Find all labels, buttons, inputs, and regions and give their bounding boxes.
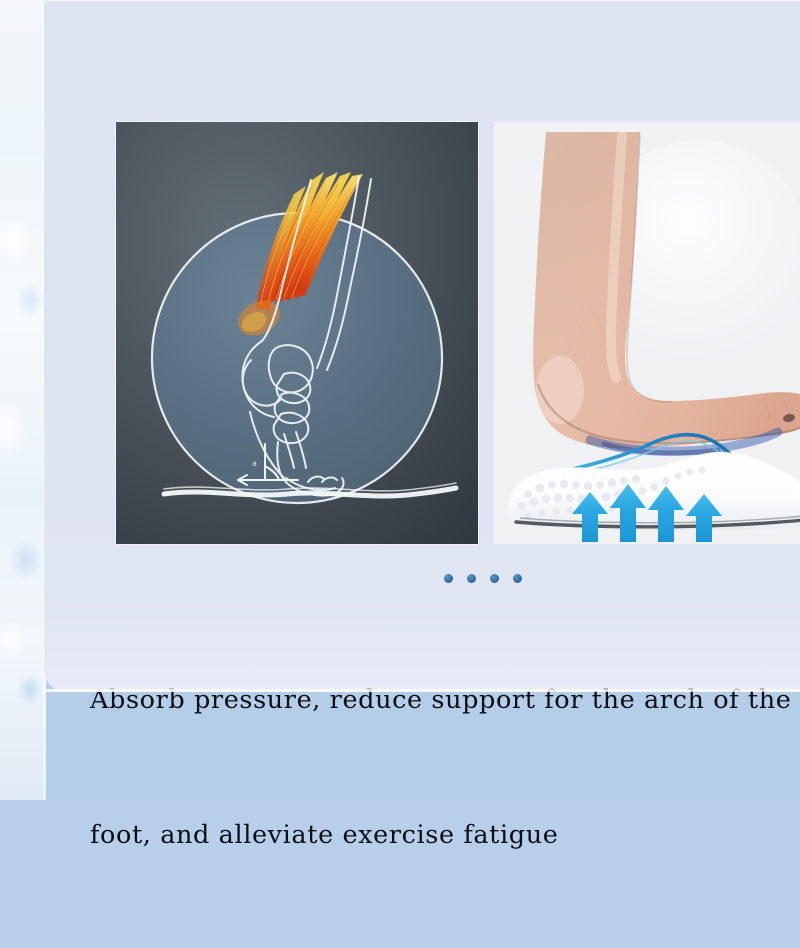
decorative-dot	[490, 574, 499, 583]
decorative-dot	[467, 574, 476, 583]
anatomy-diagram-panel: a	[116, 122, 478, 544]
decorative-dot	[513, 574, 522, 583]
content-card: a	[44, 0, 800, 692]
image-row: a	[116, 122, 800, 544]
frosted-ice-side-rail	[0, 0, 46, 800]
caption-line-1: Absorb pressure, reduce support for the …	[88, 678, 800, 723]
product-feature-screenshot: a	[0, 0, 800, 800]
decorative-dot	[444, 574, 453, 583]
decorative-dots	[444, 574, 522, 583]
caption-line-2: foot, and alleviate exercise fatigue	[88, 813, 800, 858]
feature-caption: Absorb pressure, reduce support for the …	[88, 588, 800, 948]
foot-insole-photo-panel	[494, 122, 800, 544]
svg-text:a: a	[252, 459, 257, 468]
